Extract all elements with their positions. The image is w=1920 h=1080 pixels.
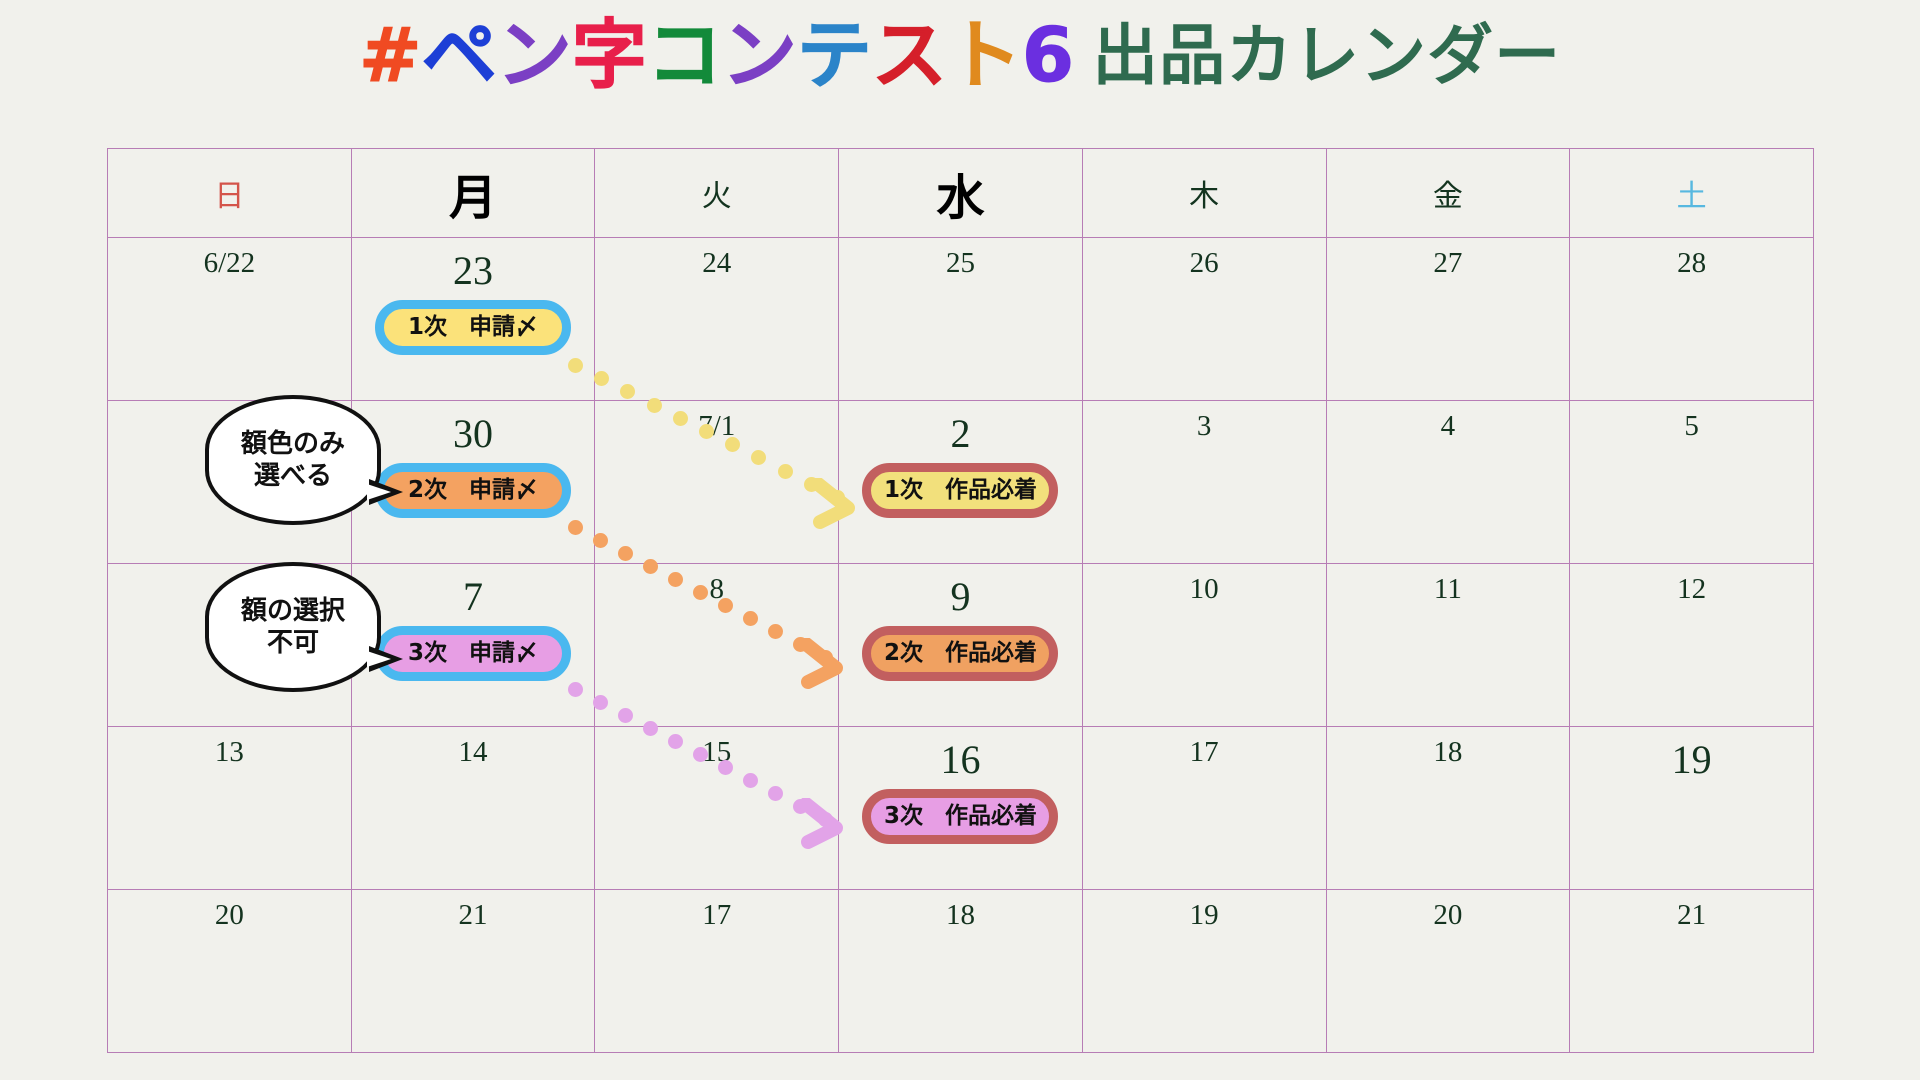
day-number: 19 <box>1570 727 1813 783</box>
pill-stage-label: 1次 <box>884 477 923 503</box>
calendar-day-cell[interactable]: 92次作品必着 <box>839 564 1083 727</box>
calendar-day-cell[interactable]: 163次作品必着 <box>839 727 1083 890</box>
calendar-day-cell[interactable]: 4 <box>1326 401 1570 564</box>
title-char-0: # <box>359 18 422 93</box>
day-number: 5 <box>1570 401 1813 443</box>
day-number: 6/22 <box>108 238 351 280</box>
arrow-head-stage-1 <box>812 478 872 538</box>
pill-text-label: 作品必着 <box>945 803 1037 829</box>
day-number: 12 <box>1570 564 1813 606</box>
pill-text-label: 作品必着 <box>945 640 1037 666</box>
connector-dot <box>618 708 633 723</box>
deadline-pill[interactable]: 3次申請〆 <box>375 626 571 681</box>
pill-stage-label: 1次 <box>408 314 447 340</box>
deadline-pill[interactable]: 2次作品必着 <box>862 626 1058 681</box>
day-number: 7 <box>352 564 595 620</box>
pill-text-label: 申請〆 <box>469 477 538 503</box>
weekday-header-4: 木 <box>1082 149 1326 238</box>
speech-bubble-frame-color-only: 額色のみ 選べる <box>205 395 381 525</box>
arrow-head-stage-3 <box>800 798 860 858</box>
day-number: 15 <box>595 727 838 769</box>
connector-dot <box>668 734 683 749</box>
day-number: 20 <box>108 890 351 932</box>
day-number: 21 <box>352 890 595 932</box>
calendar-day-cell[interactable]: 26 <box>1082 238 1326 401</box>
day-number: 18 <box>839 890 1082 932</box>
calendar-day-cell[interactable]: 14 <box>351 727 595 890</box>
day-number: 16 <box>839 727 1082 783</box>
pill-stage-label: 2次 <box>884 640 923 666</box>
day-number: 17 <box>1083 727 1326 769</box>
calendar-day-cell[interactable]: 20 <box>108 890 352 1053</box>
arrow-head-stage-2 <box>800 638 860 698</box>
speech-bubble-no-frame-choice: 額の選択 不可 <box>205 562 381 692</box>
connector-dot <box>568 520 583 535</box>
connector-dot <box>699 424 714 439</box>
title-char-8: ト <box>947 18 1022 93</box>
weekday-header-3: 水 <box>839 149 1083 238</box>
connector-dot <box>618 546 633 561</box>
page-title: #ペン字コンテスト6出品カレンダー <box>0 18 1920 93</box>
connector-dot <box>718 760 733 775</box>
day-number: 25 <box>839 238 1082 280</box>
connector-dot <box>593 695 608 710</box>
bubble-tail-icon <box>369 479 403 505</box>
connector-dot <box>743 773 758 788</box>
title-char-2: ン <box>497 18 572 93</box>
day-number: 26 <box>1083 238 1326 280</box>
day-number: 18 <box>1327 727 1570 769</box>
day-number: 10 <box>1083 564 1326 606</box>
title-char-1: ペ <box>422 18 497 93</box>
calendar-day-cell[interactable]: 18 <box>839 890 1083 1053</box>
calendar-day-cell[interactable]: 20 <box>1326 890 1570 1053</box>
calendar-day-cell[interactable]: 27 <box>1326 238 1570 401</box>
day-number: 8 <box>595 564 838 606</box>
day-number: 24 <box>595 238 838 280</box>
calendar-day-cell[interactable]: 19 <box>1570 727 1814 890</box>
connector-dot <box>778 464 793 479</box>
weekday-header-1: 月 <box>351 149 595 238</box>
connector-dot <box>693 747 708 762</box>
bubble-line-2: 選べる <box>241 460 345 493</box>
title-char-9: 6 <box>1022 18 1074 93</box>
title-char-3: 字 <box>572 18 647 93</box>
calendar-day-cell[interactable]: 21 <box>351 890 595 1053</box>
day-number: 30 <box>352 401 595 457</box>
connector-dot <box>668 572 683 587</box>
weekday-header-2: 火 <box>595 149 839 238</box>
calendar-day-cell[interactable]: 10 <box>1082 564 1326 727</box>
day-number: 27 <box>1327 238 1570 280</box>
connector-dot <box>768 786 783 801</box>
pill-text-label: 作品必着 <box>945 477 1037 503</box>
calendar-day-cell[interactable]: 12 <box>1570 564 1814 727</box>
calendar-day-cell[interactable]: 73次申請〆 <box>351 564 595 727</box>
bubble-line-1: 額の選択 <box>241 595 345 628</box>
calendar-day-cell[interactable]: 3 <box>1082 401 1326 564</box>
day-number: 2 <box>839 401 1082 457</box>
weekday-header-5: 金 <box>1326 149 1570 238</box>
pill-text-label: 申請〆 <box>469 314 538 340</box>
calendar-week-row: 20211718192021 <box>108 890 1814 1053</box>
day-number: 19 <box>1083 890 1326 932</box>
bubble-line-1: 額色のみ <box>241 428 345 461</box>
title-char-6: テ <box>797 18 872 93</box>
day-number: 7/1 <box>595 401 838 443</box>
deadline-pill[interactable]: 1次作品必着 <box>862 463 1058 518</box>
deadline-pill[interactable]: 1次申請〆 <box>375 300 571 355</box>
day-number: 28 <box>1570 238 1813 280</box>
connector-dot <box>693 585 708 600</box>
connector-dot <box>673 411 688 426</box>
calendar-day-cell[interactable]: 28 <box>1570 238 1814 401</box>
calendar-week-row: 131415163次作品必着171819 <box>108 727 1814 890</box>
pill-stage-label: 3次 <box>408 640 447 666</box>
title-char-4: コ <box>647 18 722 93</box>
calendar-day-cell[interactable]: 5 <box>1570 401 1814 564</box>
deadline-pill[interactable]: 2次申請〆 <box>375 463 571 518</box>
pill-stage-label: 3次 <box>884 803 923 829</box>
calendar-day-cell[interactable]: 17 <box>1082 727 1326 890</box>
calendar-day-cell[interactable]: 21次作品必着 <box>839 401 1083 564</box>
pill-text-label: 申請〆 <box>469 640 538 666</box>
day-number: 20 <box>1327 890 1570 932</box>
calendar-week-row: 6/22231次申請〆2425262728 <box>108 238 1814 401</box>
calendar-day-cell[interactable]: 18 <box>1326 727 1570 890</box>
day-number: 3 <box>1083 401 1326 443</box>
day-number: 13 <box>108 727 351 769</box>
pill-stage-label: 2次 <box>408 477 447 503</box>
day-number: 9 <box>839 564 1082 620</box>
connector-dot <box>568 358 583 373</box>
day-number: 11 <box>1327 564 1570 606</box>
day-number: 14 <box>352 727 595 769</box>
bubble-line-2: 不可 <box>241 627 345 660</box>
calendar-header-row: 日月火水木金土 <box>108 149 1814 238</box>
connector-dot <box>568 682 583 697</box>
connector-dot <box>593 533 608 548</box>
connector-dot <box>718 598 733 613</box>
calendar-day-cell[interactable]: 231次申請〆 <box>351 238 595 401</box>
day-number: 17 <box>595 890 838 932</box>
connector-dot <box>643 721 658 736</box>
day-number: 23 <box>352 238 595 294</box>
connector-dot <box>647 398 662 413</box>
title-char-7: ス <box>872 18 947 93</box>
calendar-day-cell[interactable]: 24 <box>595 238 839 401</box>
calendar-day-cell[interactable]: 13 <box>108 727 352 890</box>
weekday-header-0: 日 <box>108 149 352 238</box>
calendar-day-cell[interactable]: 17 <box>595 890 839 1053</box>
bubble-tail-icon <box>369 646 403 672</box>
title-char-5: ン <box>722 18 797 93</box>
connector-dot <box>743 611 758 626</box>
calendar-day-cell[interactable]: 11 <box>1326 564 1570 727</box>
deadline-pill[interactable]: 3次作品必着 <box>862 789 1058 844</box>
calendar-day-cell[interactable]: 21 <box>1570 890 1814 1053</box>
connector-dot <box>643 559 658 574</box>
calendar-day-cell[interactable]: 25 <box>839 238 1083 401</box>
connector-dot <box>768 624 783 639</box>
title-subtitle: 出品カレンダー <box>1092 23 1561 89</box>
weekday-header-6: 土 <box>1570 149 1814 238</box>
calendar-day-cell[interactable]: 19 <box>1082 890 1326 1053</box>
calendar-day-cell[interactable]: 6/22 <box>108 238 352 401</box>
day-number: 4 <box>1327 401 1570 443</box>
day-number: 21 <box>1570 890 1813 932</box>
calendar-day-cell[interactable]: 7/1 <box>595 401 839 564</box>
